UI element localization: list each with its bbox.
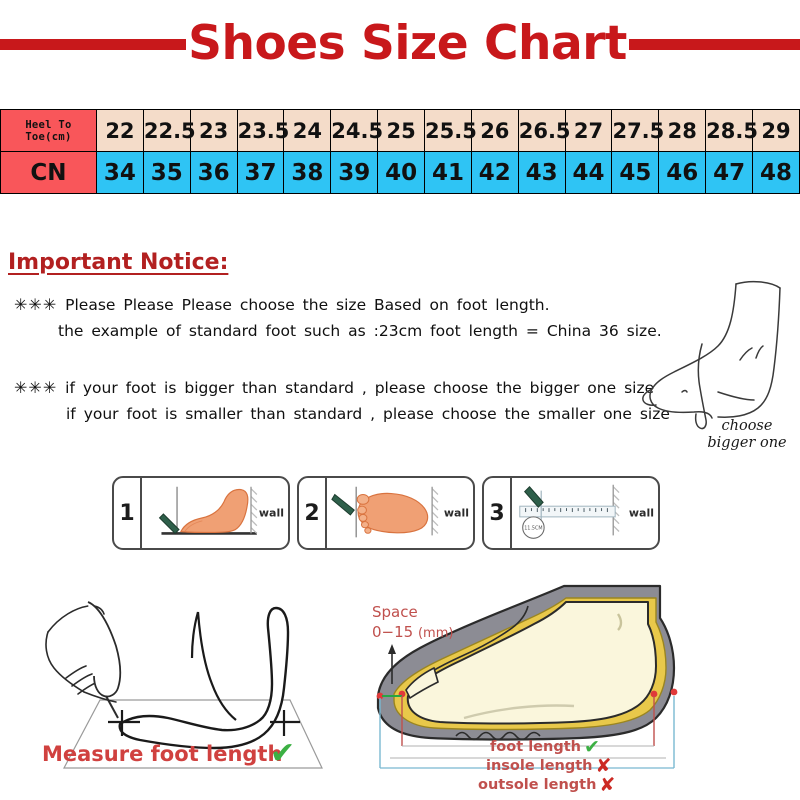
cell-cm: 25.5 xyxy=(425,110,472,152)
cell-cn: 36 xyxy=(190,152,237,194)
size-chart-table: Heel To Toe(cm) 22 22.5 23 23.5 24 24.5 … xyxy=(0,109,800,194)
cell-cm: 26 xyxy=(471,110,518,152)
table-row-cn: CN 34 35 36 37 38 39 40 41 42 43 44 45 4… xyxy=(1,152,800,194)
cell-cm: 23.5 xyxy=(237,110,284,152)
asterisk-marker: ✳✳✳ xyxy=(14,378,57,397)
step-number: 1 xyxy=(114,478,142,548)
cell-cn: 42 xyxy=(471,152,518,194)
cell-cn: 38 xyxy=(284,152,331,194)
cell-cn: 37 xyxy=(237,152,284,194)
cross-icon: ✘ xyxy=(599,776,615,795)
legend-label: insole length xyxy=(486,757,593,776)
step-panel-3: 3 xyxy=(482,476,660,550)
notice-block-1: ✳✳✳ Please Please Please choose the size… xyxy=(14,292,674,344)
cell-cn: 46 xyxy=(659,152,706,194)
caption-line-1: choose xyxy=(694,418,800,435)
wall-label: wall xyxy=(259,507,284,520)
space-label-line2: 0−15 (mm) xyxy=(372,622,453,644)
space-label-line1: Space xyxy=(372,602,453,622)
notice-line: ✳✳✳ Please Please Please choose the size… xyxy=(14,292,674,318)
step-panel-2: 2 wall xyxy=(297,476,475,550)
cell-cm: 24 xyxy=(284,110,331,152)
step-1-illustration: wall xyxy=(142,478,288,548)
length-legend: foot length ✔ insole length ✘ outsole le… xyxy=(478,738,615,795)
cell-cn: 41 xyxy=(425,152,472,194)
measure-steps-strip: 1 wall 2 xyxy=(112,476,660,550)
cell-cn: 47 xyxy=(706,152,753,194)
step-3-illustration: 11.5CM wall xyxy=(512,478,658,548)
cell-cm: 29 xyxy=(753,110,800,152)
step-panel-1: 1 wall xyxy=(112,476,290,550)
notice-line: if your foot is smaller than standard , … xyxy=(14,401,674,427)
cell-cn: 44 xyxy=(565,152,612,194)
notice-block-2: ✳✳✳ if your foot is bigger than standard… xyxy=(14,375,674,427)
cell-cm: 27 xyxy=(565,110,612,152)
cell-cn: 39 xyxy=(331,152,378,194)
legend-row-foot-length: foot length ✔ xyxy=(478,738,615,757)
space-range: 0−15 xyxy=(372,623,413,641)
cell-cm: 26.5 xyxy=(518,110,565,152)
table-row-heel-to-toe: Heel To Toe(cm) 22 22.5 23 23.5 24 24.5 … xyxy=(1,110,800,152)
caption-line-2: bigger one xyxy=(694,435,800,452)
cell-cm: 25 xyxy=(378,110,425,152)
cell-cn: 48 xyxy=(753,152,800,194)
important-notice-heading: Important Notice: xyxy=(8,250,228,275)
step-2-illustration: wall xyxy=(327,478,473,548)
legend-label: foot length xyxy=(490,738,581,757)
cell-cm: 28 xyxy=(659,110,706,152)
row-header-cn: CN xyxy=(1,152,97,194)
wall-label: wall xyxy=(444,507,469,520)
notice-text: Please Please Please choose the size Bas… xyxy=(65,296,549,314)
cell-cn: 34 xyxy=(97,152,144,194)
step-number: 2 xyxy=(299,478,327,548)
legend-row-insole-length: insole length ✘ xyxy=(478,757,615,776)
cell-cn: 40 xyxy=(378,152,425,194)
step-number: 3 xyxy=(484,478,512,548)
row-header-heel-to-toe: Heel To Toe(cm) xyxy=(1,110,97,152)
check-icon: ✔ xyxy=(270,736,295,771)
space-annotation: Space 0−15 (mm) xyxy=(372,602,453,644)
legend-label: outsole length xyxy=(478,776,596,795)
cell-cm: 24.5 xyxy=(331,110,378,152)
title-rule-right xyxy=(629,39,800,50)
cell-cm: 23 xyxy=(190,110,237,152)
svg-text:11.5CM: 11.5CM xyxy=(524,526,542,532)
space-unit: (mm) xyxy=(418,626,453,641)
cell-cm: 28.5 xyxy=(706,110,753,152)
cell-cm: 22 xyxy=(97,110,144,152)
asterisk-marker: ✳✳✳ xyxy=(14,295,57,314)
measure-foot-length-caption: Measure foot length xyxy=(42,742,282,766)
cell-cn: 45 xyxy=(612,152,659,194)
cell-cm: 22.5 xyxy=(143,110,190,152)
page-title-banner: Shoes Size Chart xyxy=(0,14,800,74)
cell-cm: 27.5 xyxy=(612,110,659,152)
page-title: Shoes Size Chart xyxy=(186,16,629,72)
wall-label: wall xyxy=(629,507,654,520)
notice-line: ✳✳✳ if your foot is bigger than standard… xyxy=(14,375,674,401)
notice-text: if your foot is bigger than standard , p… xyxy=(65,379,654,397)
cell-cn: 43 xyxy=(518,152,565,194)
notice-line: the example of standard foot such as :23… xyxy=(14,318,674,344)
legend-row-outsole-length: outsole length ✘ xyxy=(478,776,615,795)
cell-cn: 35 xyxy=(143,152,190,194)
foot-sketch-caption: choose bigger one xyxy=(694,418,800,452)
title-rule-left xyxy=(0,39,186,50)
